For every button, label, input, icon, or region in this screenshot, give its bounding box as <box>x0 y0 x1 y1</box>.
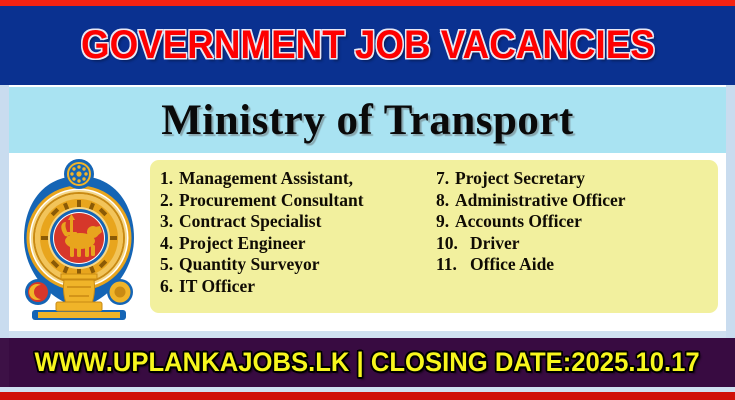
left-rail <box>0 85 9 338</box>
list-item: 2. Procurement Consultant <box>160 190 422 212</box>
ministry-title: Ministry of Transport <box>161 96 574 145</box>
list-item-number: 1. <box>160 168 179 190</box>
list-item-number: 4. <box>160 233 179 255</box>
vacancy-column-left: 1. Management Assistant, 2. Procurement … <box>150 160 422 313</box>
vacancy-column-right: 7. Project Secretary 8. Administrative O… <box>422 160 718 313</box>
list-item-number: 11. <box>436 254 470 276</box>
content-underline <box>9 331 726 338</box>
list-item: 9. Accounts Officer <box>436 211 718 233</box>
list-item-label: Driver <box>470 233 520 255</box>
list-item: 10. Driver <box>436 233 718 255</box>
list-item-label: Contract Specialist <box>179 211 321 233</box>
right-rail <box>726 85 735 338</box>
list-item-number: 8. <box>436 190 455 212</box>
list-item-label: IT Officer <box>179 276 255 298</box>
vacancy-list-box: 1. Management Assistant, 2. Procurement … <box>150 160 718 313</box>
list-item-label: Administrative Officer <box>455 190 626 212</box>
list-item: 11. Office Aide <box>436 254 718 276</box>
list-item: 5. Quantity Surveyor <box>160 254 422 276</box>
emblem-container <box>14 156 144 326</box>
sri-lanka-emblem-icon <box>14 156 144 326</box>
list-item-label: Quantity Surveyor <box>179 254 320 276</box>
list-item-number: 2. <box>160 190 179 212</box>
list-item-label: Project Secretary <box>455 168 585 190</box>
list-item-number: 5. <box>160 254 179 276</box>
list-item-number: 7. <box>436 168 455 190</box>
footer-banner: WWW.UPLANKAJOBS.LK | CLOSING DATE:2025.1… <box>0 338 735 387</box>
list-item-label: Procurement Consultant <box>179 190 364 212</box>
list-item-number: 6. <box>160 276 179 298</box>
list-item: 8. Administrative Officer <box>436 190 718 212</box>
job-vacancy-poster: GOVERNMENT JOB VACANCIES Ministry of Tra… <box>0 0 735 400</box>
footer-left-rail <box>0 338 9 387</box>
list-item: 7. Project Secretary <box>436 168 718 190</box>
list-item: 1. Management Assistant, <box>160 168 422 190</box>
ministry-banner: Ministry of Transport <box>9 87 726 153</box>
bottom-accent-strip <box>0 392 735 400</box>
footer-website-and-closing-date: WWW.UPLANKAJOBS.LK | CLOSING DATE:2025.1… <box>35 347 700 378</box>
list-item-number: 3. <box>160 211 179 233</box>
list-item-label: Project Engineer <box>179 233 306 255</box>
list-item: 6. IT Officer <box>160 276 422 298</box>
list-item-number: 9. <box>436 211 455 233</box>
list-item-label: Accounts Officer <box>455 211 582 233</box>
page-title: GOVERNMENT JOB VACANCIES <box>81 23 655 68</box>
list-item-label: Management Assistant, <box>179 168 353 190</box>
list-item-number: 10. <box>436 233 470 255</box>
list-item: 3. Contract Specialist <box>160 211 422 233</box>
list-item-label: Office Aide <box>470 254 554 276</box>
header-banner: GOVERNMENT JOB VACANCIES <box>0 6 735 85</box>
list-item: 4. Project Engineer <box>160 233 422 255</box>
